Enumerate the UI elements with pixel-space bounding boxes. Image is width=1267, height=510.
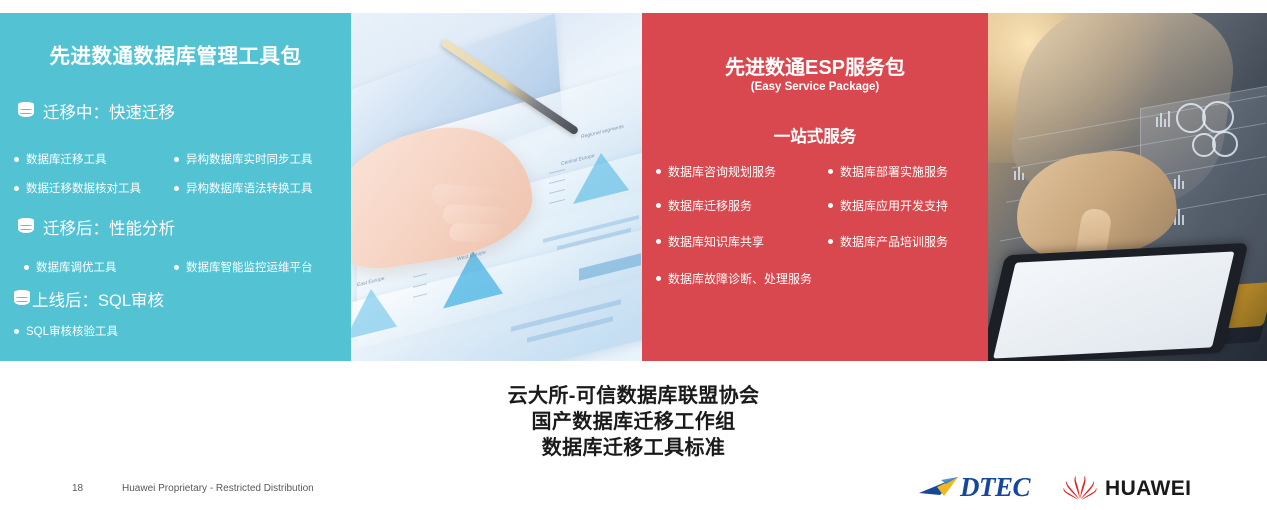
list-item: 数据库知识库共享 [656, 233, 828, 250]
list-item: 数据库迁移服务 [656, 197, 828, 214]
list-item: 数据库智能监控运维平台 [174, 259, 313, 275]
center-photo-analytics: Regional segments Central Europe West Eu… [351, 13, 642, 361]
list-item: 数据迁移数据核对工具 [14, 180, 174, 196]
list-item-label: 数据库部署实施服务 [840, 163, 948, 180]
photo-tablet-screen [993, 251, 1234, 358]
photo-hud-bar [1164, 119, 1166, 127]
bullet-dot-icon [14, 186, 19, 191]
list-item-label: 数据库产品培训服务 [840, 233, 948, 250]
photo-hud-bar [1182, 181, 1184, 189]
footer-title-line-3: 数据库迁移工具标准 [0, 435, 1267, 461]
bullet-dot-icon [174, 186, 179, 191]
teal-bullet-row-3: 数据库调优工具 数据库智能监控运维平台 [24, 259, 313, 275]
bullet-dot-icon [656, 276, 661, 281]
red-panel-tagline: 一站式服务 [642, 123, 988, 147]
red-panel-title: 先进数通ESP服务包 [642, 51, 988, 80]
photo-hud-bar [1178, 175, 1180, 189]
list-item: 异构数据库语法转换工具 [174, 180, 313, 196]
dtec-logo: DTEC [917, 472, 1030, 502]
photo-tablet-device [988, 243, 1249, 361]
teal-section-heading-3: 上线后：SQL审核 [14, 287, 164, 311]
right-photo-tablet [988, 13, 1267, 361]
list-item: 异构数据库实时同步工具 [174, 151, 313, 167]
list-item-label: 数据库迁移服务 [668, 197, 752, 214]
red-bullet-row-1: 数据库咨询规划服务 数据库部署实施服务 [656, 163, 948, 180]
red-bullet-row-3: 数据库知识库共享 数据库产品培训服务 [656, 233, 948, 250]
list-item: 数据库咨询规划服务 [656, 163, 828, 180]
list-item-label: 数据库知识库共享 [668, 233, 764, 250]
list-item: 数据库应用开发支持 [828, 197, 948, 214]
bullet-dot-icon [828, 239, 833, 244]
bullet-dot-icon [174, 265, 179, 270]
database-icon [14, 290, 30, 309]
list-item: SQL审核核验工具 [14, 323, 118, 339]
list-item-label: 异构数据库实时同步工具 [186, 151, 313, 167]
photo-hud-bar [1182, 215, 1184, 225]
huawei-flower-mark [1063, 475, 1097, 501]
teal-section-heading-3-label: 上线后：SQL审核 [32, 287, 164, 311]
photo-hud-bar [1168, 111, 1170, 127]
teal-section-heading-1-label: 迁移中：快速迁移 [43, 99, 175, 123]
panel-database-toolkit: 先进数通数据库管理工具包 迁移中：快速迁移 数据库迁移工具 异构数据库实时同步工… [0, 13, 351, 361]
list-item-label: 数据迁移数据核对工具 [26, 180, 141, 196]
bullet-dot-icon [14, 329, 19, 334]
slide-footer-title: 云大所-可信数据库联盟协会 国产数据库迁移工作组 数据库迁移工具标准 [0, 383, 1267, 461]
banner-graphic: Regional segments Central Europe West Eu… [0, 13, 1267, 361]
bullet-dot-icon [656, 239, 661, 244]
red-bullet-row-4: 数据库故障诊断、处理服务 [656, 270, 812, 287]
list-item-label: 数据库智能监控运维平台 [186, 259, 313, 275]
photo-hud-bar [1022, 173, 1024, 180]
photo-finger [449, 223, 501, 242]
teal-section-heading-1: 迁移中：快速迁移 [18, 99, 175, 123]
list-item-label: 数据库故障诊断、处理服务 [668, 270, 812, 287]
huawei-logo: HUAWEI [1063, 474, 1191, 502]
panel-esp-service: 先进数通ESP服务包 (Easy Service Package) 一站式服务 … [642, 13, 988, 361]
list-item-label: SQL审核核验工具 [26, 323, 118, 339]
list-item: 数据库部署实施服务 [828, 163, 948, 180]
bullet-dot-icon [24, 265, 29, 270]
list-item-label: 异构数据库语法转换工具 [186, 180, 313, 196]
dtec-wordmark: DTEC [960, 474, 1030, 501]
teal-section-heading-2-label: 迁移后：性能分析 [43, 215, 175, 239]
list-item-label: 数据库咨询规划服务 [668, 163, 776, 180]
dtec-arrow-mark [917, 474, 963, 500]
list-item: 数据库产品培训服务 [828, 233, 948, 250]
list-item: 数据库故障诊断、处理服务 [656, 270, 812, 287]
photo-hud-bar [1160, 113, 1162, 127]
list-item-label: 数据库迁移工具 [26, 151, 107, 167]
teal-bullet-row-2: 数据迁移数据核对工具 异构数据库语法转换工具 [14, 180, 313, 196]
confidentiality-note: Huawei Proprietary - Restricted Distribu… [122, 483, 314, 494]
list-item-label: 数据库调优工具 [36, 259, 117, 275]
footer-title-line-1: 云大所-可信数据库联盟协会 [0, 383, 1267, 409]
teal-bullet-row-1: 数据库迁移工具 异构数据库实时同步工具 [14, 151, 313, 167]
photo-hud-bar [1156, 117, 1158, 127]
bullet-dot-icon [828, 169, 833, 174]
red-panel-subtitle: (Easy Service Package) [642, 81, 988, 93]
page-number: 18 [72, 483, 83, 494]
bullet-dot-icon [828, 203, 833, 208]
photo-hud-bar [1174, 179, 1176, 189]
photo-hud-bar [1178, 209, 1180, 225]
list-item: 数据库迁移工具 [14, 151, 174, 167]
footer-title-line-2: 国产数据库迁移工作组 [0, 409, 1267, 435]
teal-panel-title: 先进数通数据库管理工具包 [0, 39, 351, 69]
database-icon [18, 102, 34, 121]
list-item: 数据库调优工具 [24, 259, 174, 275]
bullet-dot-icon [656, 169, 661, 174]
database-icon [18, 218, 34, 237]
bullet-dot-icon [174, 157, 179, 162]
list-item-label: 数据库应用开发支持 [840, 197, 948, 214]
photo-hud-ring [1202, 101, 1234, 133]
teal-section-heading-2: 迁移后：性能分析 [18, 215, 175, 239]
photo-hud-ring [1212, 131, 1238, 157]
red-bullet-row-2: 数据库迁移服务 数据库应用开发支持 [656, 197, 948, 214]
huawei-wordmark: HUAWEI [1105, 478, 1191, 499]
photo-hud-bar [1018, 167, 1020, 180]
teal-bullet-row-4: SQL审核核验工具 [14, 323, 118, 339]
bullet-dot-icon [14, 157, 19, 162]
bullet-dot-icon [656, 203, 661, 208]
photo-hud-bar [1014, 171, 1016, 180]
